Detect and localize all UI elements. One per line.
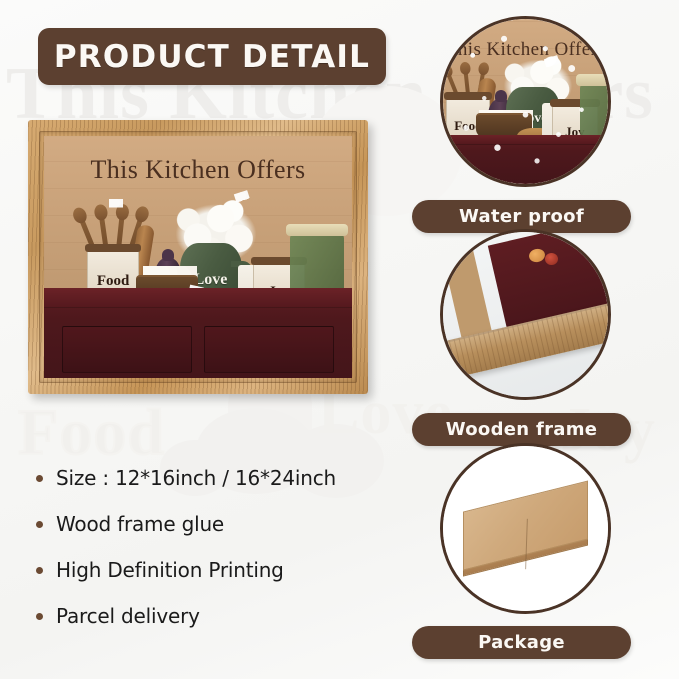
wooden-frame-image: [440, 229, 611, 400]
feature-text: High Definition Printing: [56, 558, 284, 582]
page-title: PRODUCT DETAIL: [54, 39, 370, 75]
round-kitchen-art: This Kitchen Offers Food Love: [443, 19, 608, 184]
feature-text: Wood frame glue: [56, 512, 224, 536]
counter-drawer-left: [62, 326, 191, 373]
water-droplets-overlay: [443, 19, 608, 184]
butterfly-icon: [109, 199, 123, 209]
bullet-dot-icon: [36, 475, 43, 482]
package-label-pill: Package: [412, 626, 631, 659]
food-label: Food: [88, 273, 138, 290]
product-detail-page: This Kitchen Offers Food Love Joy PRODUC…: [0, 0, 679, 679]
counter-surface: [44, 288, 352, 378]
feature-list: Size : 12*16inch / 16*24inch Wood frame …: [36, 455, 436, 639]
waterproof-label-text: Water proof: [459, 206, 584, 227]
jar-lid: [286, 224, 348, 236]
counter-top-edge: [44, 288, 352, 308]
bullet-dot-icon: [36, 567, 43, 574]
wooden-frame-label-text: Wooden frame: [446, 419, 598, 440]
artwork-canvas: This Kitchen Offers Food Love: [44, 136, 352, 378]
wooden-frame-label-pill: Wooden frame: [412, 413, 631, 446]
list-item: Wood frame glue: [36, 501, 436, 547]
waterproof-label-pill: Water proof: [412, 200, 631, 233]
package-label-text: Package: [478, 632, 565, 653]
page-title-banner: PRODUCT DETAIL: [38, 28, 386, 85]
list-item: Parcel delivery: [36, 593, 436, 639]
bullet-dot-icon: [36, 521, 43, 528]
framed-artwork-main: This Kitchen Offers Food Love: [28, 120, 368, 394]
counter-drawer-right: [204, 326, 333, 373]
list-item: High Definition Printing: [36, 547, 436, 593]
artwork-heading: This Kitchen Offers: [44, 155, 352, 185]
bullet-dot-icon: [36, 613, 43, 620]
feature-text: Parcel delivery: [56, 604, 200, 628]
crock-rim: [85, 244, 141, 252]
package-image: [440, 443, 611, 614]
waterproof-image: This Kitchen Offers Food Love: [440, 16, 611, 187]
list-item: Size : 12*16inch / 16*24inch: [36, 455, 436, 501]
feature-text: Size : 12*16inch / 16*24inch: [56, 466, 336, 490]
